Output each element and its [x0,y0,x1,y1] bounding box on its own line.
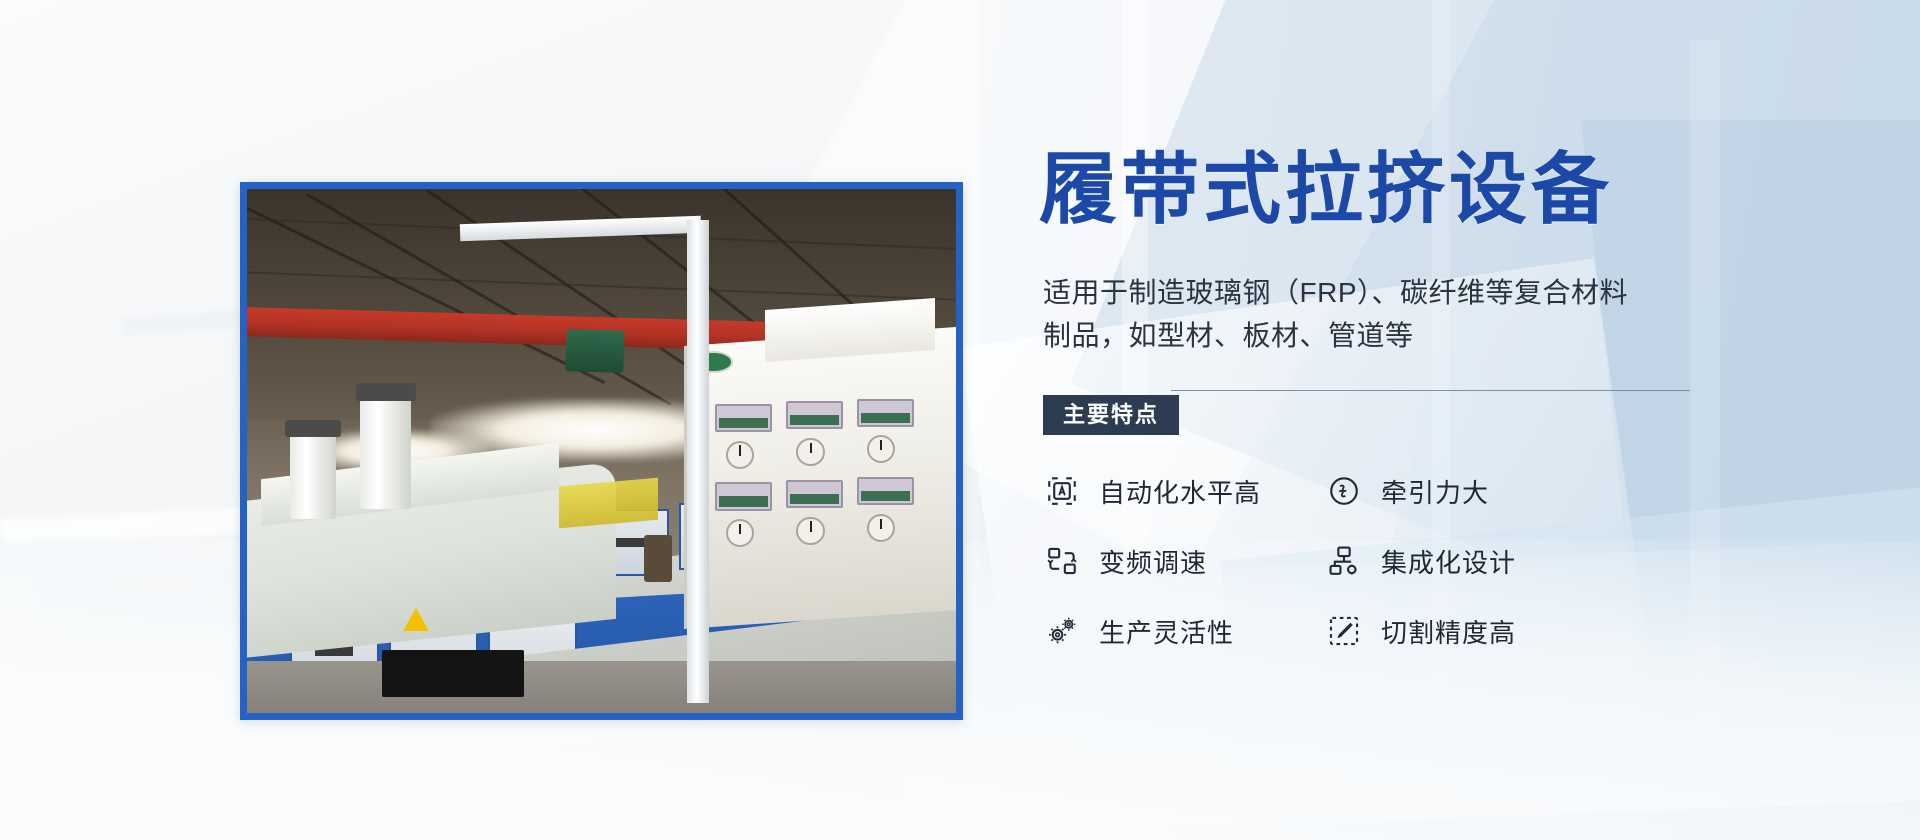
photo-meter [857,399,914,427]
photo-floor [247,661,956,713]
feature-label: 集成化设计 [1381,543,1516,580]
feature-label: 变频调速 [1099,543,1207,580]
feature-list: 自动化水平高 牵引力大 [1043,469,1683,653]
cutting-precision-pen-icon [1325,612,1363,650]
photo-worker [644,535,672,582]
photo-meter [715,404,772,432]
section-divider [1171,390,1690,391]
feature-label: 自动化水平高 [1099,473,1261,510]
photo-knob [796,517,824,545]
automation-square-a-icon [1043,472,1081,510]
photo-cylinder [290,430,336,519]
photo-meter [715,482,772,510]
product-photo-scene [247,189,956,713]
photo-meter [857,477,914,505]
photo-crane-hoist [565,330,624,374]
status-badge: 主要特点 [1043,395,1179,435]
feature-item-flexibility: 生产灵活性 [1043,609,1325,653]
photo-meter [786,480,843,508]
feature-label: 切割精度高 [1381,613,1516,650]
photo-cylinder [360,393,411,508]
product-description: 适用于制造玻璃钢（FRP）、碳纤维等复合材料制品，如型材、板材、管道等 [1043,272,1653,357]
feature-item-traction: 牵引力大 [1325,469,1607,513]
integrated-design-icon [1325,542,1363,580]
product-photo [240,182,963,720]
feature-item-cutting: 切割精度高 [1325,609,1607,653]
photo-machine-opening [382,650,524,697]
badge-divider-row: 主要特点 [1043,385,1683,431]
feature-label: 牵引力大 [1381,473,1489,510]
photo-warning-label [403,608,429,631]
product-hero-banner: 履带式拉挤设备 适用于制造玻璃钢（FRP）、碳纤维等复合材料制品，如型材、板材、… [0,0,1920,840]
frequency-speed-icon [1043,542,1081,580]
traction-waves-circle-icon [1325,472,1363,510]
photo-cylinder-cap [285,420,340,438]
feature-item-automation: 自动化水平高 [1043,469,1325,513]
photo-gantry-post [687,220,710,702]
photo-cylinder-cap [356,383,416,401]
feature-label: 生产灵活性 [1099,613,1234,650]
gears-flexibility-icon [1043,612,1081,650]
feature-item-frequency: 变频调速 [1043,539,1325,583]
photo-meter [786,401,843,429]
photo-knob [726,441,754,469]
feature-item-integrated: 集成化设计 [1325,539,1607,583]
page-title: 履带式拉挤设备 [1039,150,1683,228]
photo-knob [796,438,824,466]
hero-content: 履带式拉挤设备 适用于制造玻璃钢（FRP）、碳纤维等复合材料制品，如型材、板材、… [1043,150,1683,653]
photo-knob [726,519,754,547]
